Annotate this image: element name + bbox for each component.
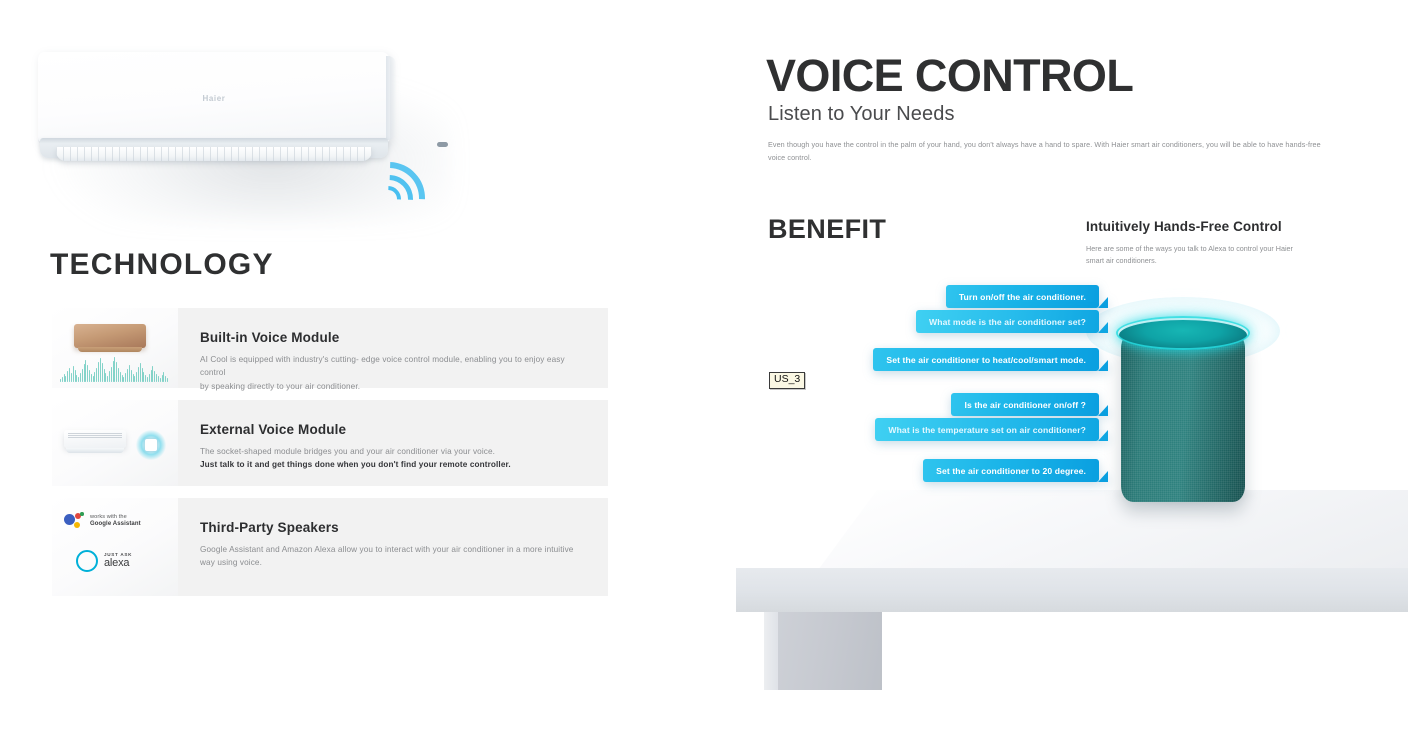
bubble-tail-icon bbox=[1098, 405, 1108, 416]
waveform-bar bbox=[154, 371, 155, 382]
waveform-bar bbox=[65, 376, 66, 382]
waveform-bar bbox=[100, 358, 101, 382]
waveform-bar bbox=[109, 371, 110, 382]
bubble-text: Turn on/off the air conditioner. bbox=[959, 292, 1086, 302]
page-root: Haier TECHNOLOGY Built-in Voice Module A… bbox=[0, 0, 1418, 733]
card-thumbnail-assistant-badges: works with the Google Assistant JUST ASK… bbox=[52, 498, 178, 596]
card-external-voice-module[interactable]: External Voice Module The socket-shaped … bbox=[52, 400, 608, 486]
technology-section-title: TECHNOLOGY bbox=[50, 248, 274, 282]
page-intro-text: Even though you have the control in the … bbox=[768, 139, 1328, 164]
waveform-bar bbox=[93, 376, 94, 382]
smart-speaker-image bbox=[1083, 288, 1283, 548]
waveform-bar bbox=[162, 375, 163, 382]
table-front-edge bbox=[736, 568, 1408, 612]
waveform-bar bbox=[160, 378, 161, 382]
speaker-light-ring bbox=[1116, 316, 1250, 350]
card-title: Built-in Voice Module bbox=[200, 330, 586, 345]
voice-command-bubble[interactable]: Set the air conditioner to heat/cool/sma… bbox=[873, 348, 1099, 371]
waveform-icon bbox=[60, 356, 168, 382]
waveform-bar bbox=[111, 367, 112, 382]
waveform-bar bbox=[152, 366, 153, 382]
waveform-bar bbox=[96, 368, 97, 382]
air-conditioner-body: Haier bbox=[38, 52, 390, 144]
waveform-bar bbox=[113, 361, 114, 382]
waveform-bar bbox=[140, 363, 141, 382]
socket-module-icon bbox=[136, 430, 166, 460]
alexa-badge-large: alexa bbox=[104, 558, 132, 570]
waveform-bar bbox=[69, 368, 70, 382]
waveform-bar bbox=[120, 372, 121, 382]
waveform-bar bbox=[94, 372, 95, 382]
google-assistant-badge: works with the Google Assistant bbox=[64, 512, 141, 530]
waveform-bar bbox=[71, 373, 72, 382]
annotation-label-us3[interactable]: US_3 bbox=[769, 372, 805, 389]
voice-control-panel: VOICE CONTROL Listen to Your Needs Even … bbox=[700, 0, 1418, 733]
card-description-line-1: AI Cool is equipped with industry's cutt… bbox=[200, 353, 586, 380]
card-content: External Voice Module The socket-shaped … bbox=[178, 400, 608, 486]
sensor-icon bbox=[437, 142, 448, 147]
waveform-bar bbox=[142, 368, 143, 382]
card-thumbnail-gold-ac bbox=[52, 308, 178, 388]
bubble-tail-icon bbox=[1098, 471, 1108, 482]
alexa-label: JUST ASK alexa bbox=[104, 553, 132, 569]
table-leg-inner bbox=[764, 612, 778, 690]
hero-air-conditioner-image: Haier bbox=[38, 52, 458, 232]
waveform-bar bbox=[73, 366, 74, 382]
bubble-text: What mode is the air conditioner set? bbox=[929, 317, 1086, 327]
wifi-waves-icon bbox=[371, 148, 461, 228]
waveform-bar bbox=[156, 374, 157, 382]
waveform-bar bbox=[75, 370, 76, 382]
waveform-bar bbox=[122, 375, 123, 382]
waveform-bar bbox=[118, 368, 119, 382]
benefit-description: Here are some of the ways you talk to Al… bbox=[1086, 243, 1301, 267]
waveform-bar bbox=[149, 374, 150, 382]
card-description-line-1: Google Assistant and Amazon Alexa allow … bbox=[200, 543, 586, 556]
white-air-conditioner-icon bbox=[64, 430, 126, 448]
alexa-badge: JUST ASK alexa bbox=[76, 550, 132, 572]
card-description-line-2: way using voice. bbox=[200, 556, 586, 569]
table-shelf-image bbox=[718, 490, 1408, 730]
waveform-bar bbox=[67, 371, 68, 382]
page-title: VOICE CONTROL bbox=[766, 50, 1133, 102]
waveform-bar bbox=[167, 378, 168, 382]
waveform-bar bbox=[131, 370, 132, 382]
waveform-bar bbox=[85, 360, 86, 382]
alexa-icon bbox=[76, 550, 98, 572]
card-title: External Voice Module bbox=[200, 422, 586, 437]
waveform-bar bbox=[114, 357, 115, 382]
table-leg bbox=[764, 612, 882, 690]
air-conditioner-louver bbox=[56, 147, 372, 161]
bubble-tail-icon bbox=[1098, 297, 1108, 308]
waveform-bar bbox=[129, 365, 130, 382]
waveform-bar bbox=[147, 377, 148, 382]
waveform-bar bbox=[158, 376, 159, 382]
waveform-bar bbox=[107, 376, 108, 382]
waveform-bar bbox=[165, 376, 166, 382]
voice-command-bubble[interactable]: What is the temperature set on air condi… bbox=[875, 418, 1099, 441]
benefit-section-title: BENEFIT bbox=[768, 214, 886, 245]
waveform-bar bbox=[98, 362, 99, 382]
waveform-bar bbox=[64, 374, 65, 382]
waveform-bar bbox=[104, 369, 105, 382]
waveform-bar bbox=[102, 363, 103, 382]
waveform-bar bbox=[123, 377, 124, 382]
card-description-line-1: The socket-shaped module bridges you and… bbox=[200, 445, 586, 458]
waveform-bar bbox=[116, 362, 117, 382]
voice-command-bubble[interactable]: Set the air conditioner to 20 degree. bbox=[923, 459, 1099, 482]
voice-command-bubble[interactable]: Turn on/off the air conditioner. bbox=[946, 285, 1099, 308]
voice-command-bubble[interactable]: Is the air conditioner on/off ? bbox=[951, 393, 1099, 416]
card-built-in-voice-module[interactable]: Built-in Voice Module AI Cool is equippe… bbox=[52, 308, 608, 388]
gold-air-conditioner-icon bbox=[74, 324, 146, 348]
waveform-bar bbox=[151, 370, 152, 382]
card-thumbnail-white-ac bbox=[52, 400, 178, 486]
bubble-tail-icon bbox=[1098, 322, 1108, 333]
benefit-heading: Intuitively Hands-Free Control bbox=[1086, 219, 1282, 234]
waveform-bar bbox=[91, 374, 92, 382]
bubble-text: Is the air conditioner on/off ? bbox=[964, 400, 1086, 410]
google-assistant-icon bbox=[64, 512, 84, 530]
bubble-text: Set the air conditioner to 20 degree. bbox=[936, 466, 1086, 476]
technology-card-list: Built-in Voice Module AI Cool is equippe… bbox=[52, 308, 608, 608]
waveform-bar bbox=[105, 373, 106, 382]
waveform-bar bbox=[143, 372, 144, 382]
waveform-bar bbox=[89, 370, 90, 382]
card-description-line-2: Just talk to it and get things done when… bbox=[200, 458, 586, 471]
voice-command-bubble[interactable]: What mode is the air conditioner set? bbox=[916, 310, 1099, 333]
google-assistant-label: works with the Google Assistant bbox=[90, 514, 141, 528]
technology-panel: Haier TECHNOLOGY Built-in Voice Module A… bbox=[0, 0, 700, 733]
waveform-bar bbox=[87, 365, 88, 382]
waveform-bar bbox=[145, 375, 146, 382]
google-badge-line-1: works with the bbox=[90, 514, 127, 520]
waveform-bar bbox=[62, 377, 63, 382]
page-subtitle: Listen to Your Needs bbox=[768, 103, 955, 126]
waveform-bar bbox=[78, 377, 79, 382]
waveform-bar bbox=[136, 372, 137, 382]
card-title: Third-Party Speakers bbox=[200, 520, 586, 535]
waveform-bar bbox=[80, 373, 81, 382]
waveform-bar bbox=[60, 379, 61, 382]
bubble-text: Set the air conditioner to heat/cool/sma… bbox=[886, 355, 1086, 365]
waveform-bar bbox=[163, 372, 164, 382]
bubble-tail-icon bbox=[1098, 430, 1108, 441]
card-description-line-2: by speaking directly to your air conditi… bbox=[200, 380, 586, 393]
waveform-bar bbox=[138, 367, 139, 382]
bubble-text: What is the temperature set on air condi… bbox=[888, 425, 1086, 435]
bubble-tail-icon bbox=[1098, 360, 1108, 371]
brand-logo: Haier bbox=[202, 94, 225, 103]
speaker-body bbox=[1121, 332, 1245, 502]
waveform-bar bbox=[127, 369, 128, 382]
waveform-bar bbox=[76, 375, 77, 382]
waveform-bar bbox=[125, 373, 126, 382]
card-content: Built-in Voice Module AI Cool is equippe… bbox=[178, 308, 608, 388]
card-third-party-speakers[interactable]: works with the Google Assistant JUST ASK… bbox=[52, 498, 608, 596]
waveform-bar bbox=[134, 376, 135, 382]
card-content: Third-Party Speakers Google Assistant an… bbox=[178, 498, 608, 596]
waveform-bar bbox=[82, 369, 83, 382]
waveform-bar bbox=[84, 364, 85, 382]
waveform-bar bbox=[133, 374, 134, 382]
google-badge-line-2: Google Assistant bbox=[90, 521, 141, 527]
